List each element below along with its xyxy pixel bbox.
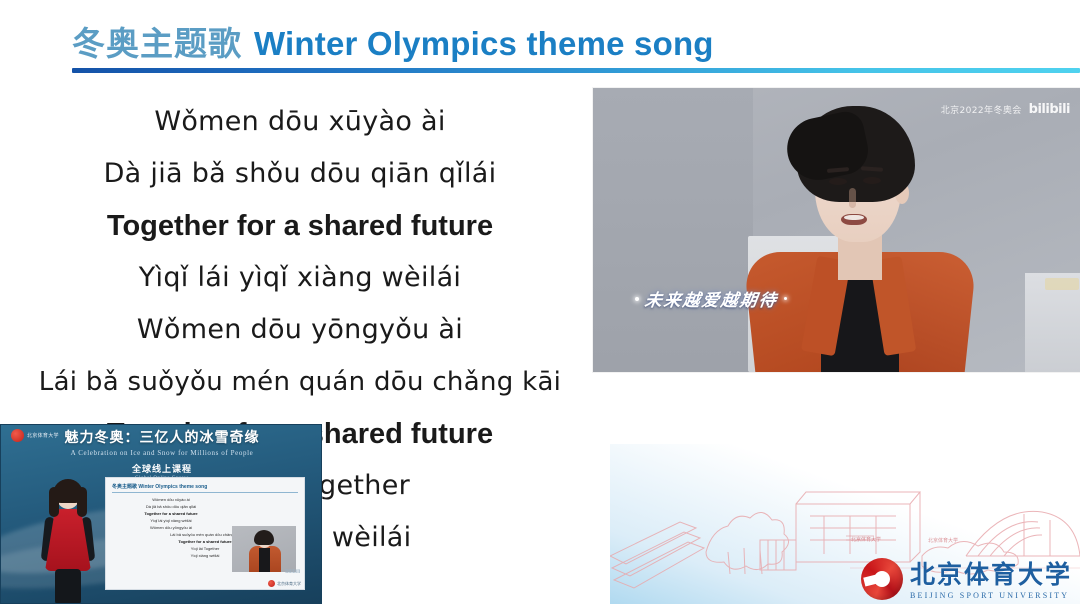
pip-lyric-line: Wǒmen dōu yōngyǒu ài: [112, 524, 230, 531]
sparkle-icon: [784, 297, 787, 300]
bsu-name-chinese: 北京体育大学: [910, 562, 1072, 590]
bsu-name-english: BEIJING SPORT UNIVERSITY: [910, 591, 1069, 600]
teeth: [844, 215, 864, 220]
lyric-line: Dà jiā bǎ shǒu dōu qiān qǐlái: [0, 148, 600, 200]
bsu-mark-icon: [268, 580, 275, 587]
pip-course-header: 魅力冬奥：三亿人的冰雪奇缘 A Celebration on Ice and S…: [1, 427, 322, 481]
nose: [849, 188, 856, 208]
pip-inner-video-hair: [254, 530, 274, 545]
pip-lyric-line: Wǒmen dōu xūyào ài: [112, 496, 230, 503]
pip-lyric-line: Yìqǐ lái yìqǐ xiàng wèilái: [112, 517, 230, 524]
page-title-english: Winter Olympics theme song: [254, 25, 714, 62]
pip-inner-bilibili-watermark: bilibili: [285, 569, 300, 575]
pip-inner-slide: 冬奥主题歌 Winter Olympics theme song Wǒmen d…: [105, 477, 305, 590]
eye-right: [863, 177, 881, 184]
bsu-swirl-icon: [861, 558, 903, 600]
lyric-line: Wǒmen dōu xūyào ài: [0, 96, 600, 148]
presenter-hair-right: [77, 487, 87, 517]
video-subject-person: [743, 106, 973, 372]
video-caption-text: 未来越爱越期待: [643, 286, 780, 311]
video-backdrop-accent: [1045, 278, 1079, 290]
presenter-legs: [55, 569, 81, 604]
picture-in-picture-video[interactable]: 北京体育大学 魅力冬奥：三亿人的冰雪奇缘 A Celebration on Ic…: [0, 424, 322, 604]
pip-inner-university-label: 北京体育大学: [277, 581, 301, 587]
pip-inner-slide-body: Wǒmen dōu xūyào ài Dà jiā bǎ shǒu dōu qi…: [112, 496, 298, 559]
video-caption: 未来越爱越期待: [635, 286, 787, 311]
pip-lyric-line: Together for a shared future: [112, 510, 230, 517]
lyric-line-highlight: Together for a shared future: [0, 200, 600, 252]
presentation-slide: 冬奥主题歌Winter Olympics theme song Wǒmen dō…: [0, 0, 1080, 604]
lyric-line: Lái bǎ suǒyǒu mén quán dōu chǎng kāi: [0, 356, 600, 408]
svg-text:北京体育大学: 北京体育大学: [928, 537, 958, 544]
sparkle-icon: [635, 297, 639, 301]
pip-inner-video-shirt: [259, 548, 270, 572]
video-backdrop-left: [593, 88, 753, 372]
pip-presenter: [41, 479, 95, 604]
pip-course-subtitle-cn: 全球线上课程: [1, 462, 322, 475]
pip-inner-slide-divider: [112, 492, 298, 493]
bilibili-logo-icon: bilibili: [1029, 102, 1070, 117]
pip-lyric-line: Dà jiā bǎ shǒu dōu qiān qǐlái: [112, 503, 230, 510]
page-title: 冬奥主题歌Winter Olympics theme song: [72, 17, 714, 65]
embedded-video-player[interactable]: 北京2022年冬奥会 bilibili 未来越爱越期待: [593, 88, 1080, 372]
bsu-logo-text: 北京体育大学 BEIJING SPORT UNIVERSITY: [910, 562, 1072, 600]
video-watermark: 北京2022年冬奥会 bilibili: [941, 102, 1070, 117]
pip-inner-slide-title: 冬奥主题歌 Winter Olympics theme song: [112, 483, 298, 490]
svg-text:北京体育大学: 北京体育大学: [851, 536, 881, 543]
pip-inner-university-logo: 北京体育大学: [268, 580, 301, 587]
lyric-line: Wǒmen dōu yōngyǒu ài: [0, 304, 600, 356]
slide-header: 冬奥主题歌Winter Olympics theme song: [0, 0, 1080, 78]
eye-left: [829, 178, 847, 185]
page-title-chinese: 冬奥主题歌: [72, 27, 242, 63]
title-divider: [72, 68, 1080, 73]
presenter-hair-left: [49, 487, 59, 517]
pip-inner-video: [232, 526, 296, 572]
video-watermark-label: 北京2022年冬奥会: [941, 103, 1022, 116]
pip-course-title-cn: 魅力冬奥：三亿人的冰雪奇缘: [1, 427, 322, 447]
bsu-logo: 北京体育大学 BEIJING SPORT UNIVERSITY: [861, 558, 1072, 600]
pip-course-title-en: A Celebration on Ice and Snow for Millio…: [1, 449, 322, 457]
lyric-line: Yìqǐ lái yìqǐ xiàng wèilái: [0, 252, 600, 304]
